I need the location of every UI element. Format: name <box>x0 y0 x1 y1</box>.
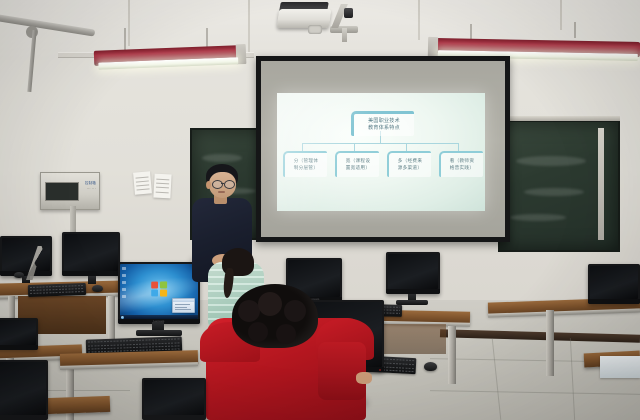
monitor-screen <box>590 266 638 299</box>
monitor-off[interactable] <box>386 252 440 294</box>
slide-root-box: 美国职业技术 教育体系特点 <box>351 111 414 136</box>
projector-lens <box>308 25 322 34</box>
screen-surface: 美国职业技术 教育体系特点 分（管理体 制分层管） 宽（课程设 置宽适用） <box>261 61 505 237</box>
eyeglasses-icon <box>224 180 235 189</box>
projector-mount-post <box>342 28 347 42</box>
notice-line <box>136 180 149 182</box>
logo-quadrant-red <box>151 282 158 289</box>
mouse[interactable] <box>92 285 103 292</box>
notice-line <box>156 192 169 194</box>
desktop-icon[interactable] <box>122 295 126 298</box>
eyeglasses-bridge <box>221 183 224 184</box>
slide-branch-box-1: 分（管理体 制分层管） <box>283 151 327 177</box>
desktop-icon[interactable] <box>122 274 126 277</box>
desktop-icon[interactable] <box>122 288 126 291</box>
board-side-trim <box>598 128 604 240</box>
chalk-mark <box>516 156 586 166</box>
projection-screen: 美国职业技术 教育体系特点 分（管理体 制分层管） 宽（课程设 置宽适用） <box>256 56 510 242</box>
eyeglasses-icon <box>212 180 223 189</box>
ceiling-seam <box>248 0 250 54</box>
logo-quadrant-green <box>160 282 168 289</box>
monitor-screen <box>0 362 46 415</box>
chalk-ledge <box>496 116 620 121</box>
camera-icon <box>344 8 353 18</box>
hair-curl <box>238 300 260 322</box>
monitor-bezel-chin <box>0 345 38 350</box>
desktop-icon[interactable] <box>122 281 126 284</box>
keyboard-row <box>30 291 84 294</box>
power-led-icon <box>379 369 381 371</box>
ceiling-light-right <box>434 38 640 56</box>
papers-stack <box>600 356 640 378</box>
presenter-mouth <box>218 191 225 193</box>
chalk-mark <box>524 188 584 196</box>
monitor-stand <box>88 276 96 284</box>
control-box-sublabel: ··· ··· <box>87 187 96 191</box>
notice-line <box>136 176 149 178</box>
ceiling-seam <box>560 0 562 30</box>
student-red-hand <box>356 372 372 384</box>
monitor-base <box>136 330 182 336</box>
dialog-line <box>175 309 191 310</box>
projector-body <box>277 9 332 28</box>
monitor-screen <box>144 380 204 415</box>
mouse[interactable] <box>14 272 24 278</box>
desktop-dialog-window[interactable] <box>172 298 195 313</box>
presenter-ear <box>206 181 211 189</box>
ceiling-seam <box>418 0 420 40</box>
mouse[interactable] <box>424 362 437 371</box>
slide-branch-text: 看（教师资 格普实践） <box>450 158 474 171</box>
monitor-windows7[interactable]: Lenovo <box>118 262 200 324</box>
hair-curl <box>248 322 268 342</box>
slide-branch-box-4: 看（教师资 格普实践） <box>439 151 483 177</box>
slide-branch-text: 宽（课程设 置宽适用） <box>346 158 370 171</box>
monitor-screen <box>388 254 438 289</box>
control-box-display <box>45 182 79 201</box>
monitor-off[interactable] <box>62 232 120 276</box>
light-hanger <box>574 22 576 38</box>
slide-connector-horizontal <box>302 143 459 144</box>
windows7-desktop[interactable] <box>120 264 198 319</box>
dialog-line <box>175 304 190 305</box>
windows-logo-icon <box>151 282 167 297</box>
monitor-screen <box>0 320 36 345</box>
notice-line <box>156 179 169 181</box>
logo-quadrant-yellow <box>160 290 168 297</box>
dialog-titlebar <box>173 299 194 302</box>
hair-curl <box>258 292 282 316</box>
hair-curl <box>284 300 306 322</box>
monitor-off[interactable] <box>142 378 206 420</box>
desk-leg <box>448 326 456 384</box>
slide-branch-box-3: 多（经费来 源多渠道） <box>387 151 431 177</box>
projected-slide: 美国职业技术 教育体系特点 分（管理体 制分层管） 宽（课程设 置宽适用） <box>277 93 485 211</box>
red-coat-arm <box>318 342 366 400</box>
slide-branch-text: 分（管理体 制分层管） <box>294 158 318 171</box>
chalk-mark <box>510 214 566 221</box>
desktop-icon[interactable] <box>122 267 126 270</box>
logo-quadrant-blue <box>151 290 158 297</box>
light-endcap <box>428 37 438 57</box>
notice-line <box>156 183 169 185</box>
slide-branch-box-2: 宽（课程设 置宽适用） <box>335 151 379 177</box>
wall-notice <box>133 171 152 194</box>
notice-line <box>137 188 150 190</box>
control-box-label: 控制箱 <box>85 181 96 186</box>
desk-leg <box>546 310 554 376</box>
slide-root-text: 美国职业技术 教育体系特点 <box>368 118 400 133</box>
slide-branch-text: 多（经费来 源多渠道） <box>398 158 422 171</box>
ceiling-seam <box>128 0 130 46</box>
dialog-line <box>175 307 187 308</box>
wall-notice <box>153 174 171 199</box>
control-box-stem <box>70 206 76 232</box>
monitor-off[interactable] <box>588 264 640 304</box>
keyboard[interactable] <box>28 283 86 297</box>
notice-line <box>136 184 149 186</box>
hair-curl <box>276 324 296 344</box>
light-hanger <box>124 28 126 52</box>
monitor-off[interactable] <box>0 318 38 350</box>
wall-control-box[interactable]: 控制箱 ··· ··· <box>40 172 100 210</box>
monitor-screen <box>64 234 118 271</box>
monitor-bezel-chin <box>588 299 640 304</box>
notice-line <box>156 187 169 189</box>
chalk-mark <box>202 154 242 162</box>
classroom-scene: 控制箱 ··· ··· 美国职业技术 教育体系特点 <box>0 0 640 420</box>
monitor-off[interactable] <box>0 360 48 420</box>
